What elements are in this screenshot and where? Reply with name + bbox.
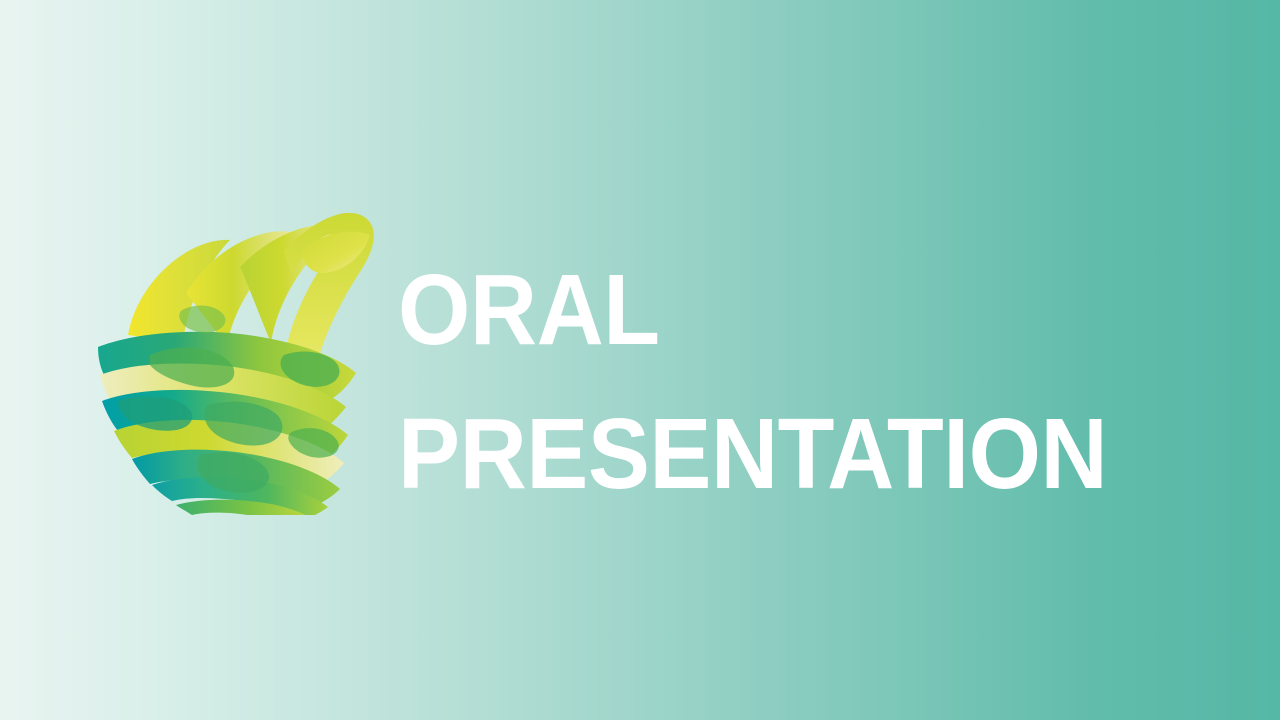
title-line-presentation: PRESENTATION <box>398 382 1161 526</box>
title-slide: ORAL PRESENTATION <box>0 0 1280 720</box>
title-line-oral: ORAL <box>398 238 1161 382</box>
globe-ribbon-leaf-logo <box>88 205 388 515</box>
slide-title: ORAL PRESENTATION <box>398 238 1218 526</box>
globe-logo-svg <box>88 205 388 515</box>
